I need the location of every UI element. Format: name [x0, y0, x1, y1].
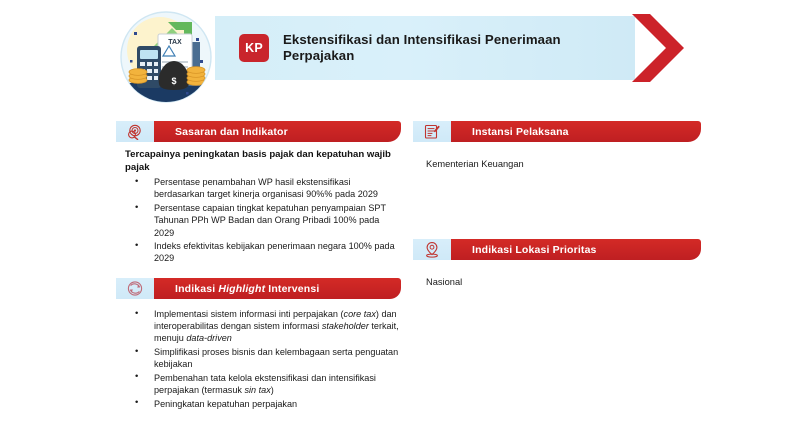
- section-title-bar: Indikasi Lokasi Prioritas: [451, 239, 701, 260]
- section-lede: Tercapainya peningkatan basis pajak dan …: [116, 149, 401, 174]
- section-header: Instansi Pelaksana: [413, 121, 701, 142]
- tax-illustration-icon: TAX $: [110, 8, 222, 106]
- kp-badge: KP: [239, 34, 269, 62]
- section-title: Indikasi Highlight Intervensi: [175, 283, 319, 295]
- section-body: Kementerian Keuangan: [413, 142, 701, 170]
- list-item: Simplifikasi proses bisnis dan kelembaga…: [116, 346, 401, 370]
- section-title-bar: Sasaran dan Indikator: [154, 121, 401, 142]
- section-title: Indikasi Lokasi Prioritas: [472, 244, 597, 256]
- list-item: Indeks efektivitas kebijakan penerimaan …: [116, 240, 401, 264]
- section-header: Indikasi Highlight Intervensi: [116, 278, 401, 299]
- slide-page: TAX $: [0, 0, 800, 423]
- section-title: Instansi Pelaksana: [472, 126, 569, 138]
- section-indikasi-highlight-intervensi: Indikasi Highlight Intervensi Implementa…: [116, 278, 401, 411]
- chevron-right-arrow-icon: [628, 12, 700, 84]
- target-magnifier-icon: [116, 121, 154, 142]
- instansi-value: Kementerian Keuangan: [413, 149, 701, 170]
- section-body: Tercapainya peningkatan basis pajak dan …: [116, 142, 401, 265]
- clipboard-pencil-icon: [413, 121, 451, 142]
- list-item: Persentase penambahan WP hasil ekstensif…: [116, 176, 401, 200]
- list-item: Implementasi sistem informasi inti perpa…: [116, 308, 401, 345]
- svg-text:$: $: [171, 76, 176, 86]
- program-banner: KP Ekstensifikasi dan Intensifikasi Pene…: [215, 16, 635, 80]
- section-body: Nasional: [413, 260, 701, 288]
- list-item: Pembenahan tata kelola ekstensifikasi da…: [116, 372, 401, 396]
- highlight-bullet-list: Implementasi sistem informasi inti perpa…: [116, 308, 401, 410]
- section-title: Sasaran dan Indikator: [175, 126, 288, 138]
- section-header: Indikasi Lokasi Prioritas: [413, 239, 701, 260]
- section-header: Sasaran dan Indikator: [116, 121, 401, 142]
- section-instansi-pelaksana: Instansi Pelaksana Kementerian Keuangan: [413, 121, 701, 170]
- section-title-bar: Instansi Pelaksana: [451, 121, 701, 142]
- section-sasaran-dan-indikator: Sasaran dan Indikator Tercapainya pening…: [116, 121, 401, 266]
- list-item: Peningkatan kepatuhan perpajakan: [116, 398, 401, 410]
- section-body: Implementasi sistem informasi inti perpa…: [116, 299, 401, 410]
- svg-text:TAX: TAX: [168, 39, 182, 46]
- location-pin-icon: [413, 239, 451, 260]
- page-title: Ekstensifikasi dan Intensifikasi Penerim…: [283, 32, 635, 64]
- lokasi-value: Nasional: [413, 267, 701, 288]
- sasaran-bullet-list: Persentase penambahan WP hasil ekstensif…: [116, 176, 401, 264]
- section-title-bar: Indikasi Highlight Intervensi: [154, 278, 401, 299]
- section-indikasi-lokasi-prioritas: Indikasi Lokasi Prioritas Nasional: [413, 239, 701, 288]
- list-item: Persentase capaian tingkat kepatuhan pen…: [116, 202, 401, 239]
- refresh-circle-icon: [116, 278, 154, 299]
